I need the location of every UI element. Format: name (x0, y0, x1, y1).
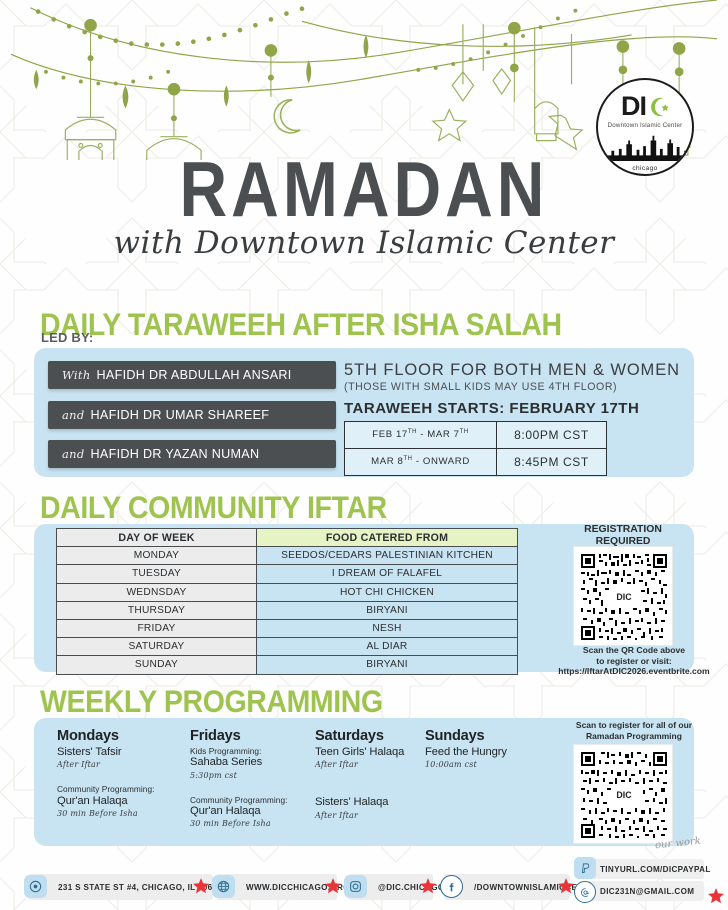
weekly-entry: Community Programming: Qur'an Halaqa 30 … (190, 795, 320, 829)
footer-bar: 231 S STATE ST #4, CHICAGO, IL 60604 WWW… (0, 862, 728, 910)
chicago-star-icon (708, 888, 724, 904)
taraweeh-schedule-table: FEB 17TH - MAR 7TH 8:00PM CST MAR 8TH - … (344, 421, 607, 476)
table-row: SUNDAYBIRYANI (57, 656, 518, 674)
iftar-heading: DAILY COMMUNITY IFTAR (40, 490, 387, 527)
location-pin-icon (24, 875, 47, 898)
iftar-food: I DREAM OF FALAFEL (257, 565, 518, 583)
footer-paypal[interactable]: TINYURL.COM/DICPAYPAL (586, 859, 704, 879)
page-title: RAMADAN (0, 150, 728, 228)
qr-code-graphic[interactable]: DIC (579, 552, 669, 642)
weekly-column-saturdays: Saturdays Teen Girls' Halaqa After Iftar… (315, 728, 435, 820)
iftar-table: DAY OF WEEK FOOD CATERED FROM MONDAYSEED… (56, 528, 518, 675)
logo-subtitle: Downtown Islamic Center (598, 122, 692, 129)
chicago-star-icon (558, 878, 574, 894)
weekly-entry: Kids Programming: Sahaba Series 5:30pm c… (190, 746, 320, 780)
iftar-food: NESH (257, 619, 518, 637)
iftar-food: BIRYANI (257, 656, 518, 674)
chicago-star-icon (420, 878, 436, 894)
table-row: MAR 8TH - ONWARD 8:45PM CST (345, 449, 607, 476)
logo-text: DI (621, 93, 646, 120)
column-header-day: DAY OF WEEK (57, 529, 257, 547)
table-row: FEB 17TH - MAR 7TH 8:00PM CST (345, 422, 607, 449)
imam-bar-2: and HAFIDH DR UMAR SHAREEF (48, 401, 336, 429)
iftar-food: SEEDOS/CEDARS PALESTINIAN KITCHEN (257, 547, 518, 565)
table-row: FRIDAYNESH (57, 619, 518, 637)
iftar-day: SATURDAY (57, 638, 257, 656)
weekly-day-label: Sundays (425, 728, 545, 744)
table-row: MONDAYSEEDOS/CEDARS PALESTINIAN KITCHEN (57, 547, 518, 565)
ramadan-flyer: DI Downtown Islamic Center chicago RAMAD… (0, 0, 728, 910)
schedule-time: 8:00PM CST (497, 422, 607, 449)
chicago-star-icon (193, 878, 209, 894)
table-row: SATURDAYAL DIAR (57, 638, 518, 656)
facebook-icon (440, 875, 463, 898)
weekly-qr-caption: Scan to register for all of our Ramadan … (548, 720, 720, 741)
qr-caption-line-1: Scan the QR Code above (583, 645, 685, 655)
svg-text:DIC: DIC (616, 592, 632, 602)
column-header-food: FOOD CATERED FROM (257, 529, 518, 547)
weekly-day-label: Fridays (190, 728, 320, 744)
weekly-entry: Feed the Hungry 10:00am cst (425, 746, 545, 769)
imam-bar-3: and HAFIDH DR YAZAN NUMAN (48, 440, 336, 468)
footer-email[interactable]: DIC231N@GMAIL.COM (586, 881, 704, 901)
crescent-star-icon (647, 96, 669, 118)
chicago-star-icon (325, 878, 341, 894)
globe-icon (212, 875, 235, 898)
imam-prefix: With (62, 368, 91, 382)
imam-bar-1: With HAFIDH DR ABDULLAH ANSARI (48, 361, 336, 389)
weekly-qr-line-1: Scan to register for all of our (576, 720, 692, 730)
weekly-entry: Sisters' Halaqa After Iftar (315, 796, 435, 819)
iftar-day: MONDAY (57, 547, 257, 565)
iftar-day: SUNDAY (57, 656, 257, 674)
iftar-day: TUESDAY (57, 565, 257, 583)
iftar-qr-caption: Scan the QR Code above to register or vi… (540, 645, 728, 677)
iftar-day: THURSDAY (57, 601, 257, 619)
imam-name: HAFIDH DR UMAR SHAREEF (91, 408, 270, 422)
weekly-qr-code[interactable]: DIC (573, 744, 673, 844)
iftar-food: HOT CHI CHICKEN (257, 583, 518, 601)
iftar-day: FRIDAY (57, 619, 257, 637)
instagram-icon (344, 875, 367, 898)
led-by-label: LED BY: (41, 330, 93, 345)
table-row: WEDNSDAYHOT CHI CHICKEN (57, 583, 518, 601)
imam-name: HAFIDH DR YAZAN NUMAN (91, 447, 260, 461)
taraweeh-kids-note: (THOSE WITH SMALL KIDS MAY USE 4TH FLOOR… (344, 381, 617, 393)
qr-registration-url[interactable]: https://IftarAtDIC2026.eventbrite.com (558, 666, 709, 676)
iftar-food: AL DIAR (257, 638, 518, 656)
weekly-column-fridays: Fridays Kids Programming: Sahaba Series … (190, 728, 320, 828)
imam-prefix: and (62, 447, 85, 461)
weekly-entry: Sisters' Tafsir After Iftar (57, 746, 187, 769)
weekly-day-label: Mondays (57, 728, 187, 744)
weekly-heading: WEEKLY PROGRAMMING (40, 684, 383, 721)
table-row: THURSDAYBIRYANI (57, 601, 518, 619)
registration-line-1: REGISTRATION (584, 524, 662, 535)
schedule-range: FEB 17TH - MAR 7TH (345, 422, 497, 449)
weekly-column-mondays: Mondays Sisters' Tafsir After Iftar Comm… (57, 728, 187, 818)
taraweeh-heading: DAILY TARAWEEH AFTER ISHA SALAH (40, 307, 562, 344)
footer-address: 231 S STATE ST #4, CHICAGO, IL 60604 (28, 874, 213, 900)
table-row: TUESDAYI DREAM OF FALAFEL (57, 565, 518, 583)
taraweeh-floor-note: 5TH FLOOR FOR BOTH MEN & WOMEN (344, 361, 680, 380)
qr-code-graphic[interactable]: DIC (579, 750, 669, 840)
registration-required-label: REGISTRATION REQUIRED (553, 524, 693, 548)
imam-prefix: and (62, 408, 85, 422)
weekly-entry: Community Programming: Qur'an Halaqa 30 … (57, 784, 187, 818)
imam-name: HAFIDH DR ABDULLAH ANSARI (97, 368, 292, 382)
svg-text:DIC: DIC (616, 790, 632, 800)
iftar-day: WEDNSDAY (57, 583, 257, 601)
schedule-time: 8:45PM CST (497, 449, 607, 476)
taraweeh-start-date: TARAWEEH STARTS: FEBRUARY 17TH (344, 400, 639, 417)
schedule-range: MAR 8TH - ONWARD (345, 449, 497, 476)
iftar-qr-code[interactable]: DIC (573, 546, 673, 646)
weekly-day-label: Saturdays (315, 728, 435, 744)
page-subtitle: with Downtown Islamic Center (0, 225, 728, 261)
qr-caption-line-2: to register or visit: (596, 656, 671, 666)
paypal-icon (574, 857, 596, 879)
weekly-qr-line-2: Ramadan Programming (586, 731, 682, 741)
email-icon (574, 881, 596, 903)
table-header-row: DAY OF WEEK FOOD CATERED FROM (57, 529, 518, 547)
weekly-entry: Teen Girls' Halaqa After Iftar (315, 746, 435, 769)
iftar-food: BIRYANI (257, 601, 518, 619)
weekly-column-sundays: Sundays Feed the Hungry 10:00am cst (425, 728, 545, 769)
